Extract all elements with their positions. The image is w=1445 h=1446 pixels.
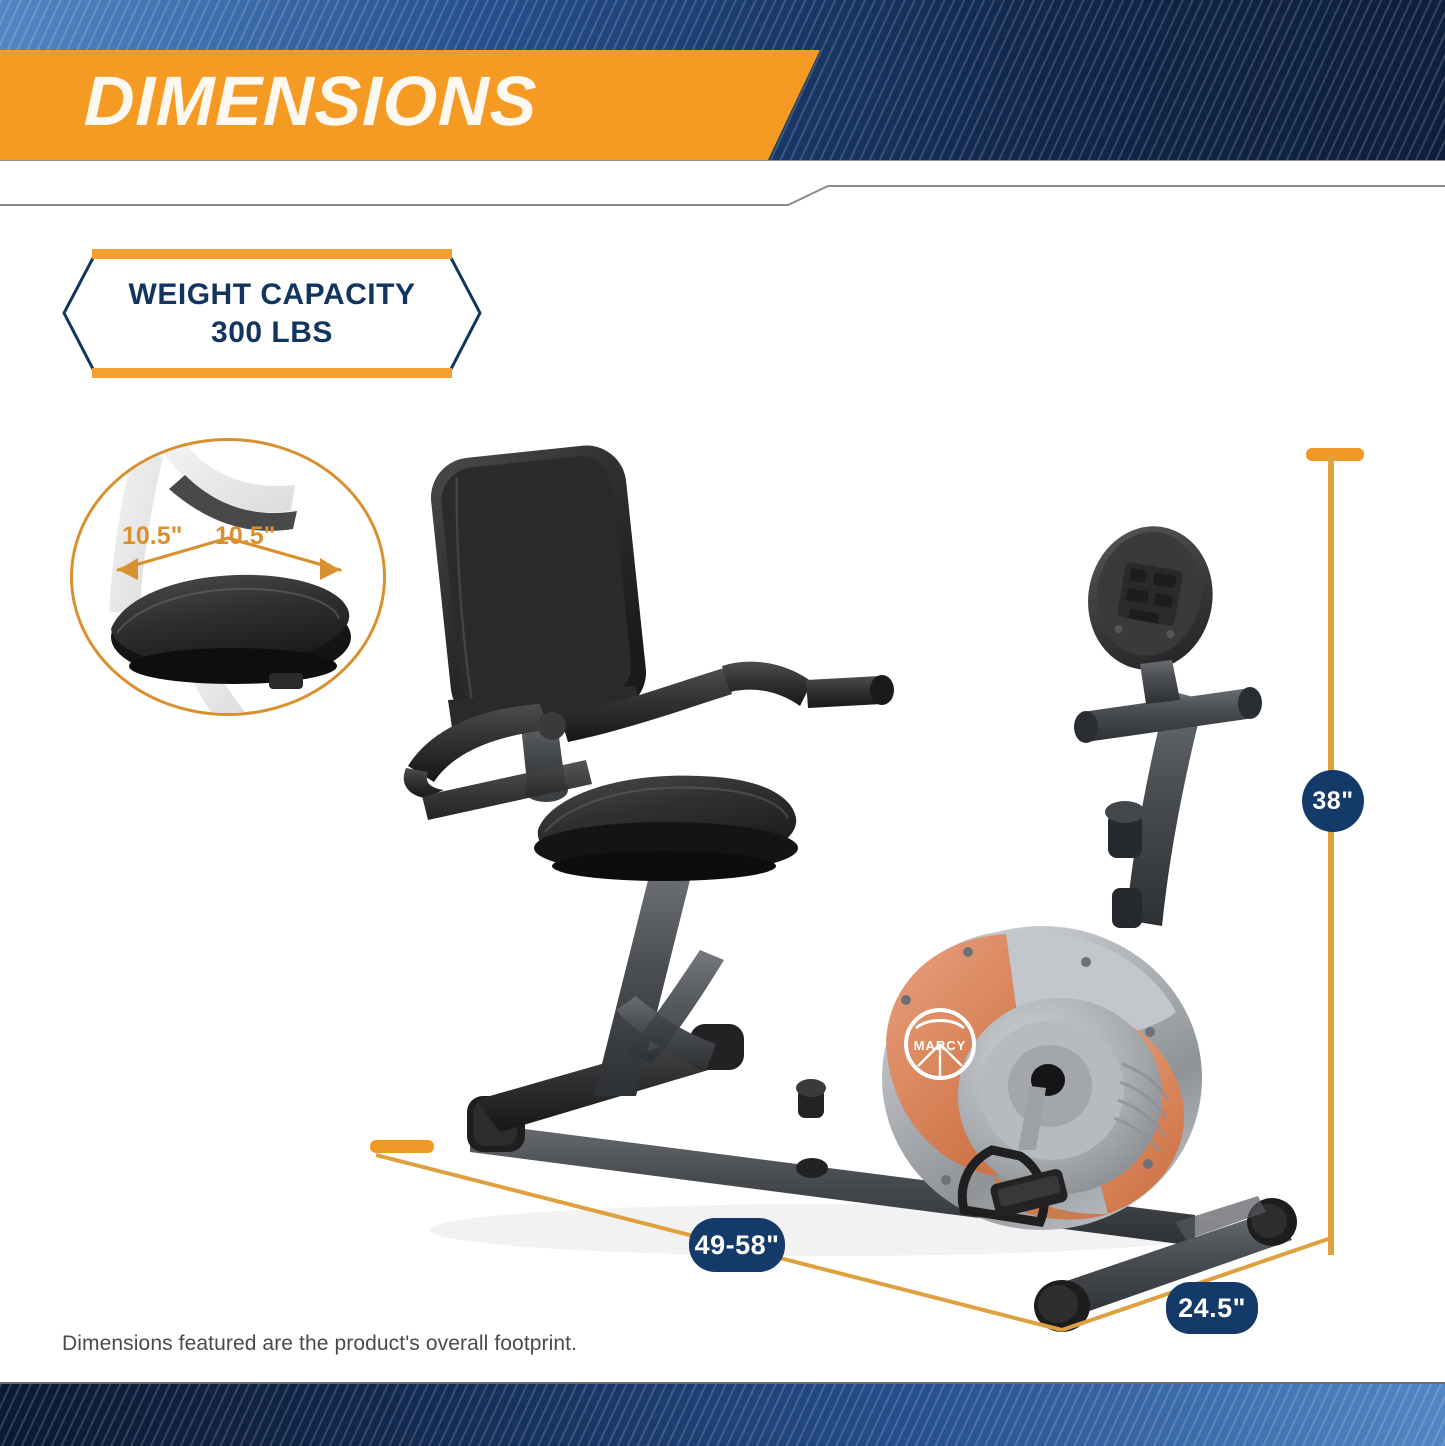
height-dimension-badge: 38" xyxy=(1302,770,1364,832)
width-dimension-badge: 24.5" xyxy=(1166,1282,1258,1334)
footnote-text: Dimensions featured are the product's ov… xyxy=(62,1332,577,1356)
svg-text:MARCY: MARCY xyxy=(914,1038,967,1053)
brand-logo: MARCY xyxy=(906,1010,974,1078)
length-dimension-badge: 49-58" xyxy=(689,1218,785,1272)
footer-banner-background xyxy=(0,1382,1445,1446)
infographic-canvas: DIMENSIONS WEIGHT CAPACITY 300 LBS xyxy=(0,0,1445,1446)
